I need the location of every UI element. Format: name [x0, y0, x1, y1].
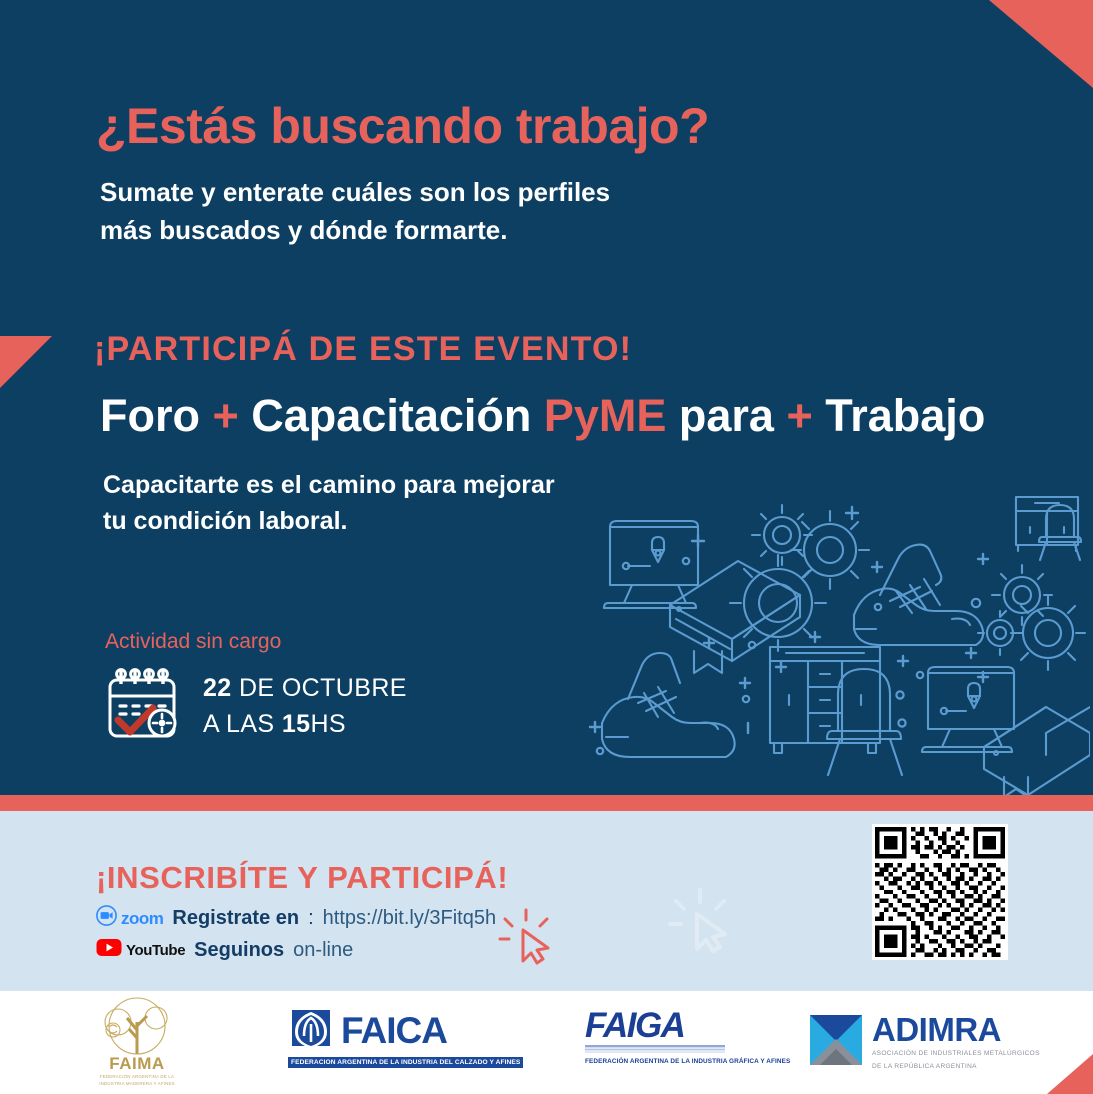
- cta-title: ¡INSCRIBÍTE Y PARTICIPÁ!: [96, 860, 508, 896]
- click-cursor-watermark-icon: [668, 888, 740, 959]
- event-tagline-line-1: Capacitarte es el camino para mejorar: [103, 468, 555, 504]
- subheadline-line-2: más buscados y dónde formarte.: [100, 212, 610, 250]
- event-tagline: Capacitarte es el camino para mejorar tu…: [103, 468, 555, 539]
- event-flyer: ¿Estás buscando trabajo? Sumate y entera…: [0, 0, 1093, 1094]
- follow-mode: on-line: [293, 939, 353, 962]
- event-title-part3: para: [666, 390, 786, 441]
- event-date-text: 22 DE OCTUBRE A LAS 15HS: [203, 671, 407, 742]
- qr-code[interactable]: [872, 824, 1008, 960]
- logo-adimra-name: ADIMRA: [872, 1011, 1001, 1048]
- event-time-number: 15: [282, 710, 311, 738]
- subheadline-line-1: Sumate y enterate cuáles son los perfile…: [100, 174, 610, 212]
- event-day-number: 22: [203, 674, 232, 702]
- event-title-pyme: PyME: [544, 390, 667, 441]
- faica-emblem-icon: [288, 1006, 334, 1055]
- gears-icon-right: [978, 565, 1085, 670]
- event-title-part4: Trabajo: [813, 390, 986, 441]
- youtube-follow-row[interactable]: YouTube Seguinos on-line: [96, 938, 353, 963]
- monitor-pen-icon: [604, 521, 698, 611]
- logo-faica-tagline: FEDERACION ARGENTINA DE LA INDUSTRIA DEL…: [288, 1057, 523, 1068]
- dresser-chair-icon-center: [770, 647, 902, 775]
- event-date-line: 22 DE OCTUBRE: [203, 671, 407, 707]
- logo-faima-tagline-1: FEDERACIÓN ARGENTINA DE LA: [90, 1074, 184, 1081]
- zoom-camera-icon: [96, 905, 117, 932]
- books-icon: [670, 561, 800, 673]
- logo-adimra-tagline-1: ASOCIACIÓN DE INDUSTRIALES METALÚRGICOS: [872, 1049, 1040, 1059]
- event-time-line: A LAS 15HS: [203, 707, 407, 743]
- zoom-logo: zoom: [96, 905, 163, 932]
- logo-faiga[interactable]: FAIGA FEDERACIÓN ARGENTINA DE LA INDUSTR…: [585, 1008, 790, 1065]
- logo-adimra[interactable]: ADIMRA ASOCIACIÓN DE INDUSTRIALES METALÚ…: [810, 1013, 1040, 1072]
- logo-adimra-tagline-2: DE LA REPÚBLICA ARGENTINA: [872, 1062, 1040, 1072]
- monitor-books-icon-bottom: [922, 667, 1090, 795]
- gears-icon-top: [730, 505, 869, 651]
- event-title-part2: Capacitación: [239, 390, 544, 441]
- page-title: ¿Estás buscando trabajo?: [96, 97, 709, 155]
- logo-faiga-tagline: FEDERACIÓN ARGENTINA DE LA INDUSTRIA GRÁ…: [585, 1058, 790, 1065]
- event-title: Foro + Capacitación PyME para + Trabajo: [100, 390, 985, 442]
- free-activity-label: Actividad sin cargo: [105, 630, 281, 654]
- industry-illustration: [580, 455, 1090, 795]
- youtube-wordmark: YouTube: [126, 942, 185, 959]
- event-time-prefix: A LAS: [203, 710, 282, 738]
- event-title-plus1: +: [212, 390, 238, 441]
- event-day-month: DE OCTUBRE: [232, 674, 407, 702]
- register-url[interactable]: https://bit.ly/3Fitq5h: [323, 907, 496, 930]
- corner-triangle-left-icon: [0, 336, 52, 388]
- event-date-block: 22 DE OCTUBRE A LAS 15HS: [103, 668, 407, 745]
- corner-triangle-top-right-icon: [989, 0, 1093, 88]
- zoom-register-row[interactable]: zoom Registrate en: https://bit.ly/3Fitq…: [96, 905, 496, 932]
- event-time-suffix: HS: [310, 710, 346, 738]
- sneaker-icon-top: [854, 545, 983, 645]
- logo-faiga-name: FAIGA: [585, 1008, 790, 1043]
- logo-faica-name: FAICA: [341, 1012, 447, 1049]
- corner-triangle-bottom-right-icon: [1047, 1054, 1093, 1094]
- youtube-logo: YouTube: [96, 938, 185, 963]
- logo-faima[interactable]: FAIMA FEDERACIÓN ARGENTINA DE LA INDUSTR…: [90, 996, 184, 1087]
- follow-label: Seguinos: [194, 939, 284, 962]
- dresser-chair-icon-right: [1016, 497, 1081, 560]
- event-title-plus2: +: [786, 390, 812, 441]
- participate-label: ¡PARTICIPÁ DE ESTE EVENTO!: [94, 330, 632, 369]
- register-label: Registrate en: [172, 907, 299, 930]
- section-divider: [0, 795, 1093, 811]
- logo-faima-tagline-2: INDUSTRIA MADERERA Y AFINES: [90, 1081, 184, 1088]
- hero-section: ¿Estás buscando trabajo? Sumate y entera…: [0, 0, 1093, 795]
- logo-faica[interactable]: FAICA FEDERACION ARGENTINA DE LA INDUSTR…: [288, 1006, 523, 1068]
- youtube-play-icon: [96, 938, 122, 963]
- click-cursor-icon: [498, 908, 560, 971]
- calendar-check-clock-icon: [103, 668, 185, 745]
- event-tagline-line-2: tu condición laboral.: [103, 504, 555, 540]
- adimra-emblem-icon: [810, 1015, 862, 1070]
- subheadline: Sumate y enterate cuáles son los perfile…: [100, 174, 610, 249]
- event-title-part1: Foro: [100, 390, 212, 441]
- zoom-wordmark: zoom: [121, 909, 163, 929]
- register-colon: :: [308, 907, 314, 930]
